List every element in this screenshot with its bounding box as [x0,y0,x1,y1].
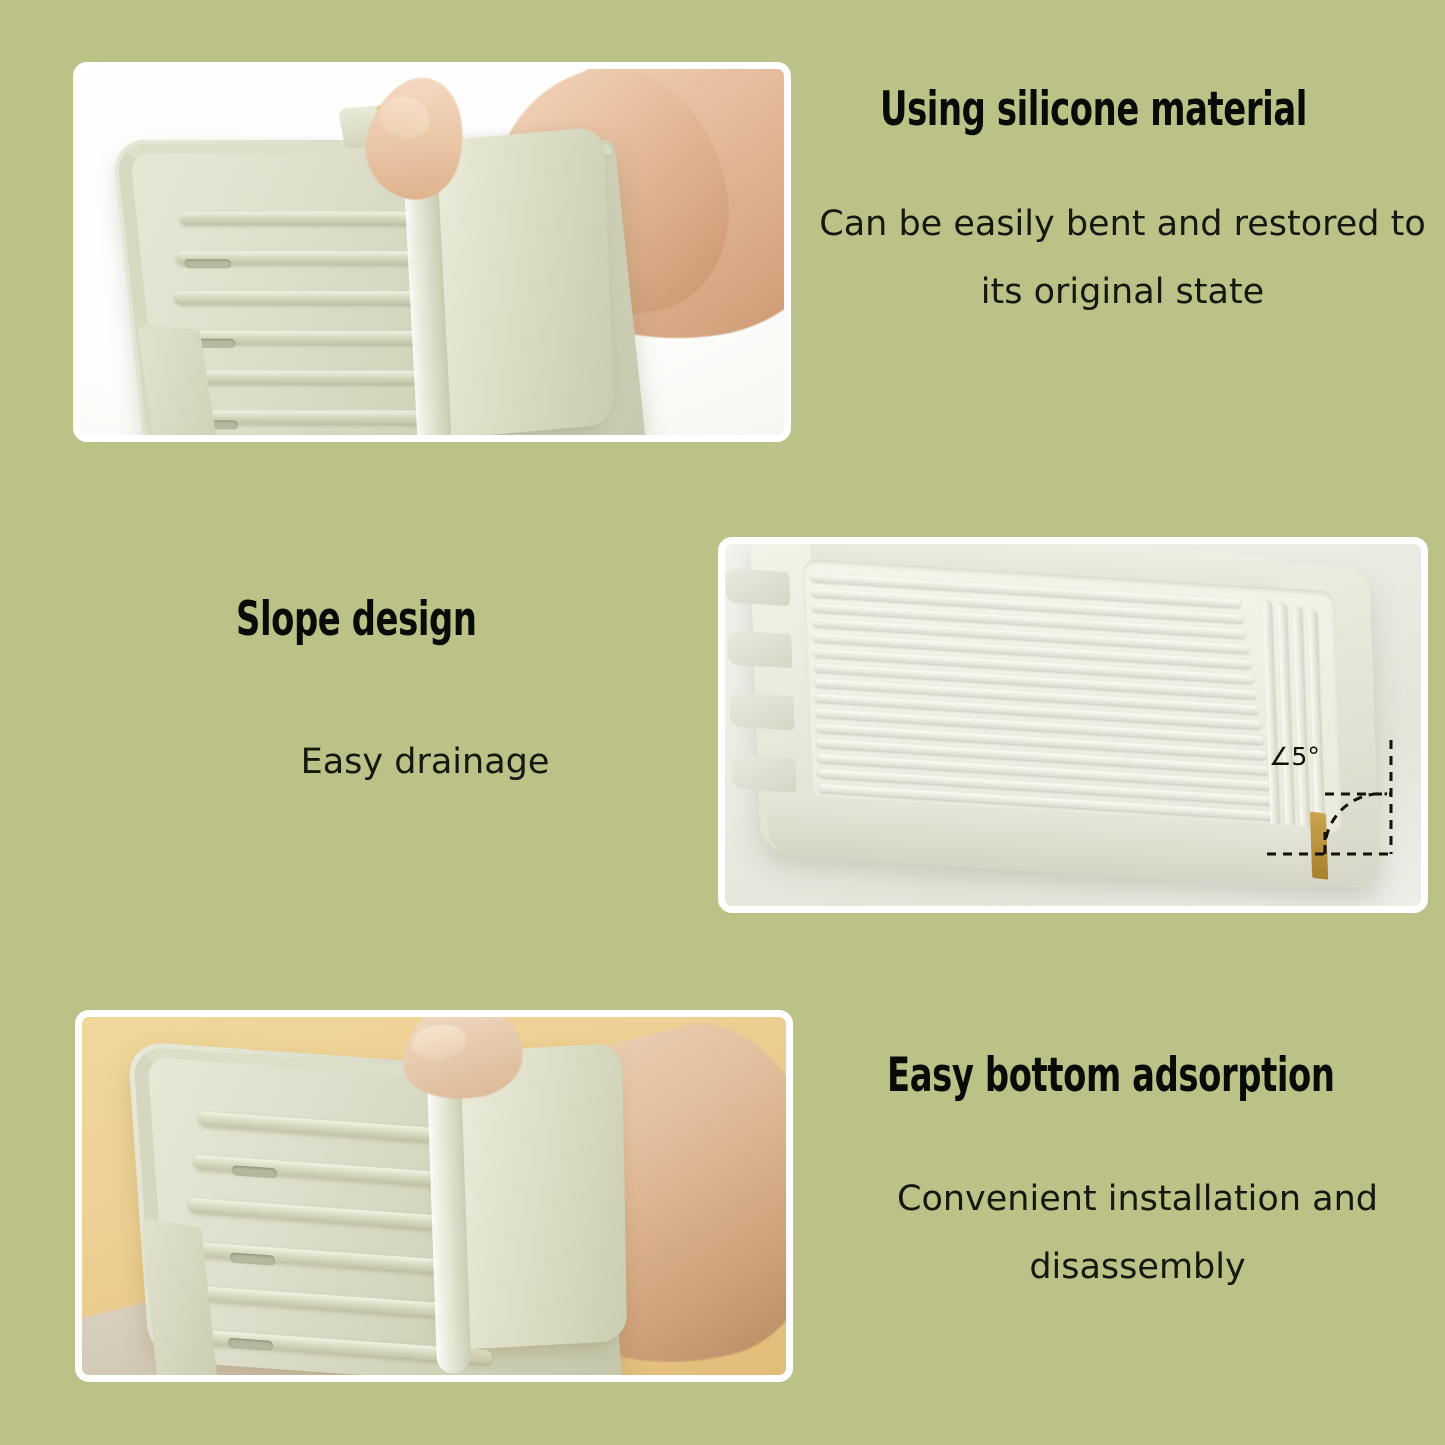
infographic-page: Using silicone material Can be easily be… [0,0,1445,1445]
subtext-slope-design: Easy drainage [160,728,690,796]
board-side-tabs [725,568,803,793]
subtext-line-2: its original state [800,258,1445,326]
headline-slope-design: Slope design [236,592,477,647]
subtext-line-1: Convenient installation and [830,1165,1445,1233]
angle-label: ∠5° [1269,742,1320,771]
photo-bottom-adsorption-content [82,1017,786,1375]
tray-rib [179,212,432,225]
headline-bottom-adsorption: Easy bottom adsorption [887,1048,1335,1103]
angle-arc [1325,794,1387,854]
photo-silicone-bending [73,62,791,442]
subtext-line-1: Easy drainage [160,728,690,796]
subtext-silicone-material: Can be easily bent and restored to its o… [800,190,1445,327]
silicone-tray-peeled [127,1041,623,1375]
board-side-tab [732,755,797,793]
photo-silicone-bending-content [80,69,784,435]
headline-silicone-material: Using silicone material [880,82,1307,137]
tray-drain-slot [184,259,231,268]
subtext-line-1: Can be easily bent and restored to [800,190,1445,258]
subtext-bottom-adsorption: Convenient installation and disassembly [830,1165,1445,1302]
photo-slope-design-content: ∠5° [725,544,1421,906]
angle-annotation: ∠5° [1263,736,1413,876]
board-side-tab [725,568,790,606]
photo-bottom-adsorption [75,1010,793,1382]
board-side-tab [729,692,794,730]
board-side-tab [727,630,792,668]
photo-slope-design: ∠5° [718,537,1428,913]
subtext-line-2: disassembly [830,1233,1445,1301]
